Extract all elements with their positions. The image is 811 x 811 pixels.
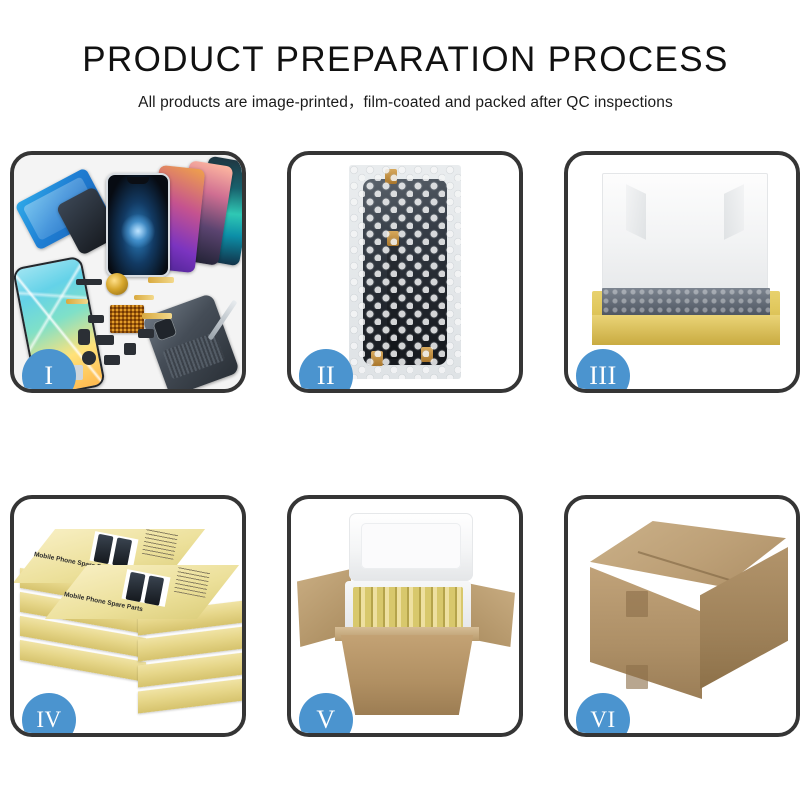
step-panel-boxed-stack: Mobile Phone Spare Parts Mobile Phone Sp…: [10, 495, 246, 737]
kraft-tray-front-icon: [592, 315, 780, 345]
flex-cable-icon: [66, 299, 88, 304]
white-box-lid-icon: [602, 173, 768, 297]
carton-body-icon: [335, 635, 479, 715]
step-panel-bubble-wrapping: II: [287, 151, 523, 393]
foam-lid-icon: [349, 513, 473, 581]
box-stack-icon: Mobile Phone Spare Parts Mobile Phone Sp…: [20, 521, 242, 717]
flex-cable-icon: [148, 277, 174, 283]
phone-back-housing-icon: [142, 293, 240, 389]
page-title: PRODUCT PREPARATION PROCESS: [0, 42, 811, 77]
flex-cable-icon: [134, 295, 154, 300]
tape-patch-icon: [626, 665, 648, 689]
bubble-wrap-package-icon: [349, 165, 461, 379]
chip-part-icon: [78, 329, 90, 345]
chip-part-icon: [88, 315, 104, 323]
step-panel-sealed-carton: VI: [564, 495, 800, 737]
product-thumb-icon: [93, 534, 113, 564]
front-glass-icon: [106, 173, 170, 277]
speaker-coil-icon: [106, 273, 128, 295]
page-subtitle: All products are image-printed，film-coat…: [0, 95, 811, 111]
bubble-texture-highlight: [349, 165, 461, 379]
chip-part-icon: [104, 355, 120, 365]
process-steps-grid: I II III: [10, 151, 801, 737]
flex-cable-icon: [142, 313, 172, 319]
lid-flap-left-icon: [626, 184, 646, 240]
chip-part-icon: [96, 335, 114, 345]
page-header: PRODUCT PREPARATION PROCESS All products…: [0, 0, 811, 111]
step-panel-foam-carton-packing: V: [287, 495, 523, 737]
product-thumb-icon: [112, 537, 132, 567]
lid-flap-right-icon: [724, 184, 744, 240]
product-thumb-icon: [144, 575, 164, 605]
bubble-wrapped-contents-icon: [602, 288, 770, 316]
tape-patch-icon: [626, 591, 648, 617]
chip-part-icon: [138, 329, 154, 338]
button-part-icon: [82, 351, 96, 365]
chip-part-icon: [124, 343, 136, 355]
step-panel-parts-assortment: I: [10, 151, 246, 393]
packed-boxes-icon: [353, 587, 463, 631]
step-panel-inner-box-packing: III: [564, 151, 800, 393]
chip-part-icon: [76, 279, 102, 285]
product-thumb-icon: [125, 572, 145, 602]
